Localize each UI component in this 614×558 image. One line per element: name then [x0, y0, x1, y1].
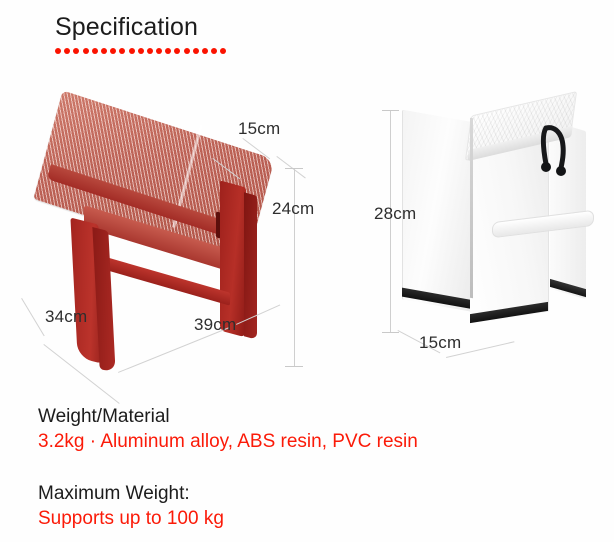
- divider-dot: [110, 48, 116, 54]
- divider-dot: [73, 48, 79, 54]
- divider-dot: [202, 48, 208, 54]
- dimension-tick-24cm-bottom: [285, 366, 303, 367]
- spec-value-weight-material: 3.2kg · Aluminum alloy, ABS resin, PVC r…: [38, 429, 578, 455]
- dotted-divider: [55, 48, 355, 54]
- spec-label-maximum-weight: Maximum Weight:: [38, 481, 578, 506]
- dimension-tick-28cm-bottom: [382, 332, 399, 333]
- divider-dot: [211, 48, 217, 54]
- dimension-tick-24cm-top: [285, 168, 303, 169]
- divider-dot: [64, 48, 70, 54]
- spec-row-weight-material: Weight/Material 3.2kg · Aluminum alloy, …: [38, 404, 578, 455]
- product-figure-area: 15cm 24cm 34cm 39cm: [0, 82, 614, 400]
- specification-page: Specification 15cm 24cm: [0, 0, 614, 542]
- dimension-label-34cm-overall: 34cm: [45, 307, 87, 327]
- product-image-folded-stool: [400, 94, 595, 354]
- product-image-open-stool: [48, 102, 298, 372]
- spec-label-weight-material: Weight/Material: [38, 404, 578, 429]
- divider-dot: [119, 48, 125, 54]
- page-title: Specification: [55, 12, 355, 42]
- divider-dot: [174, 48, 180, 54]
- dimension-label-39cm-width: 39cm: [194, 315, 236, 335]
- divider-dot: [83, 48, 89, 54]
- divider-dot: [147, 48, 153, 54]
- divider-dot: [193, 48, 199, 54]
- spec-row-maximum-weight: Maximum Weight: Supports up to 100 kg: [38, 481, 578, 532]
- dimension-label-28cm-folded-height: 28cm: [374, 204, 416, 224]
- dimension-line-24cm: [294, 168, 295, 366]
- dimension-tick-28cm-top: [382, 110, 399, 111]
- stool-leg-right: [220, 181, 246, 338]
- dimension-label-24cm-height: 24cm: [272, 199, 314, 219]
- divider-dot: [220, 48, 226, 54]
- dimension-leader-34cm-a: [21, 298, 45, 336]
- divider-dot: [156, 48, 162, 54]
- page-header: Specification: [55, 12, 355, 54]
- divider-dot: [129, 48, 135, 54]
- divider-dot: [55, 48, 61, 54]
- dimension-label-15cm-depth: 15cm: [238, 119, 280, 139]
- divider-dot: [92, 48, 98, 54]
- spec-value-maximum-weight: Supports up to 100 kg: [38, 506, 578, 532]
- carry-strap-icon: [540, 124, 574, 186]
- dimension-label-15cm-folded-width: 15cm: [419, 333, 461, 353]
- divider-dot: [101, 48, 107, 54]
- specification-list: Weight/Material 3.2kg · Aluminum alloy, …: [38, 404, 578, 558]
- divider-dot: [184, 48, 190, 54]
- divider-dot: [165, 48, 171, 54]
- divider-dot: [138, 48, 144, 54]
- folded-hinge: [470, 118, 473, 299]
